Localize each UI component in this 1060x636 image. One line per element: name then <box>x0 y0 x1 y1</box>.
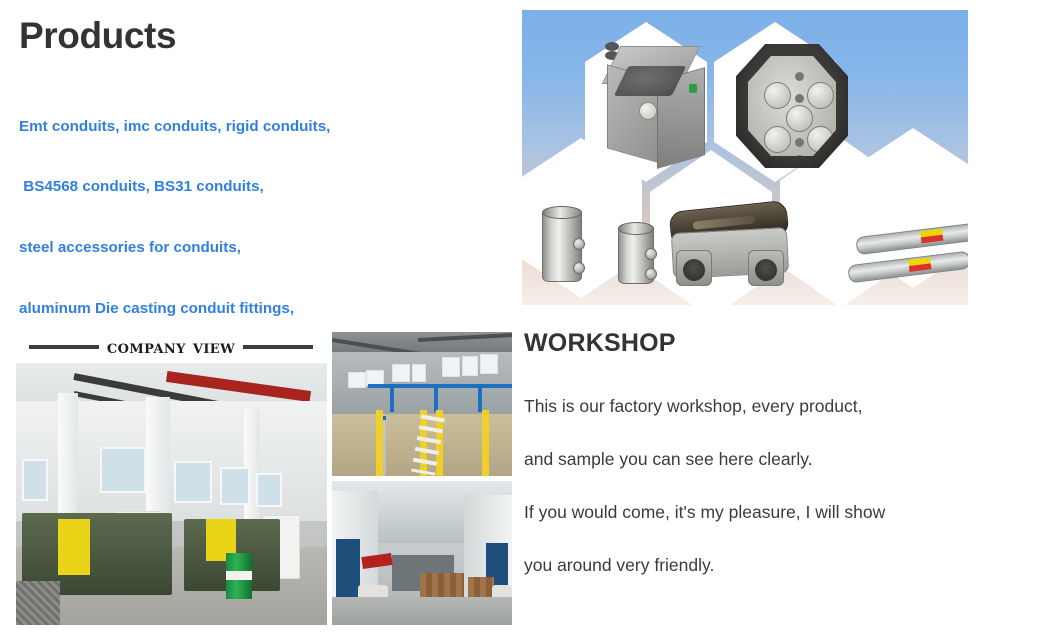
banner-rule-left <box>29 345 99 349</box>
products-list-line: steel accessories for conduits, <box>19 238 330 258</box>
product-collage-image <box>522 10 968 305</box>
octagon-ceiling-junction-box <box>736 44 848 168</box>
company-view-banner: Company View <box>16 333 326 361</box>
workshop-section: WORKSHOP This is our factory workshop, e… <box>524 328 1044 605</box>
products-list-line: Emt conduits, imc conduits, rigid condui… <box>19 117 330 137</box>
workshop-line: you around very friendly. <box>524 552 1044 579</box>
workshop-line: This is our factory workshop, every prod… <box>524 393 1044 420</box>
products-section: Products Emt conduits, imc conduits, rig… <box>0 0 512 320</box>
photo-racks <box>332 332 512 476</box>
workshop-title: WORKSHOP <box>524 328 1044 358</box>
page-title: Products <box>19 16 176 57</box>
rectangular-weatherproof-junction-box <box>605 42 717 170</box>
products-list-line: aluminum Die casting conduit fittings, <box>19 299 330 319</box>
banner-rule-right <box>243 345 313 349</box>
workshop-line: If you would come, it's my pleasure, I w… <box>524 499 1044 526</box>
workshop-line: and sample you can see here clearly. <box>524 446 1044 473</box>
photo-workshop-machines <box>16 363 327 625</box>
company-view-label: Company View <box>107 336 235 358</box>
conduit-body-type-t <box>664 206 794 290</box>
products-list-line: BS4568 conduits, BS31 conduits, <box>19 177 330 197</box>
emt-set-screw-coupling <box>542 208 580 280</box>
workshop-description: This is our factory workshop, every prod… <box>524 366 1044 605</box>
photo-corridor <box>332 481 512 625</box>
emt-compression-connector <box>618 224 652 282</box>
